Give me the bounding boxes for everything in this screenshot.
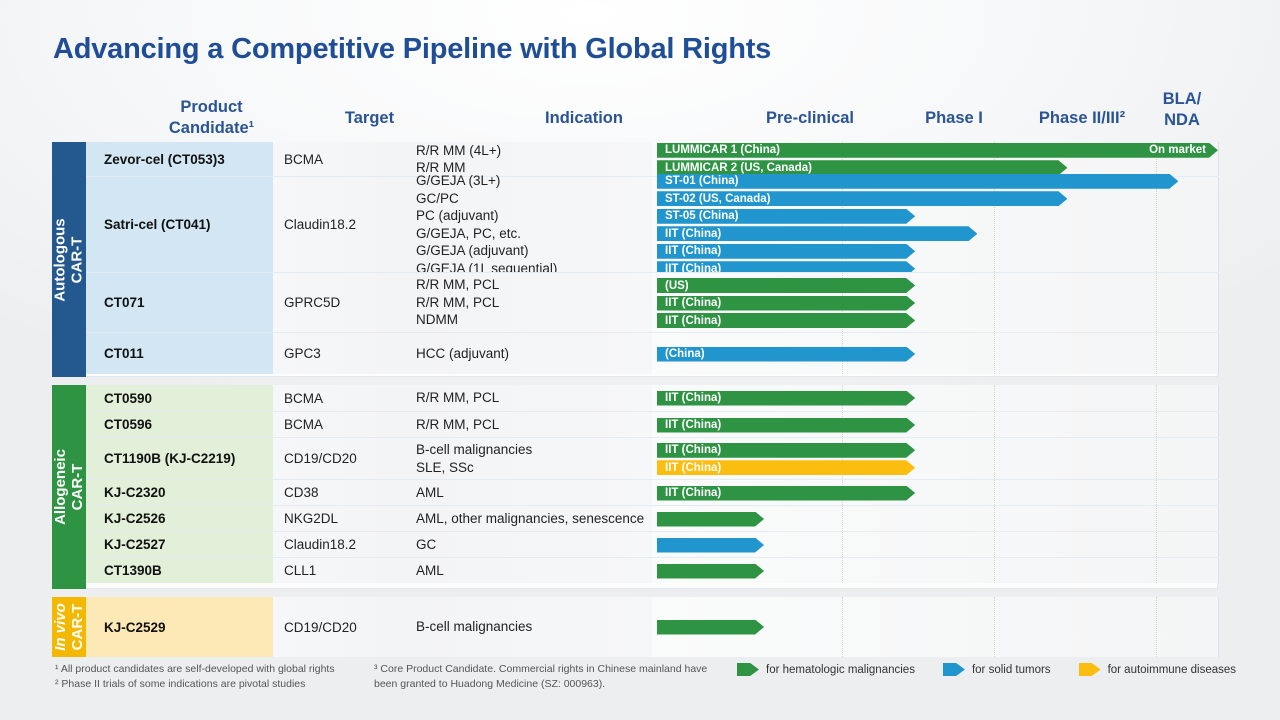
indication-line: AML: [416, 484, 652, 502]
cell-phase-bars: IIT (China): [652, 480, 1218, 505]
cell-target: CLL1: [273, 558, 402, 583]
pipeline-bar[interactable]: IIT (China): [657, 244, 915, 259]
phase-gridline: [994, 412, 995, 437]
pipeline-bar-label: IIT (China): [665, 462, 721, 474]
phase-gridline: [842, 558, 843, 583]
indication-line: B-cell malignancies: [416, 441, 652, 459]
pipeline-bar-label: IIT (China): [665, 245, 721, 257]
phase-gridline: [1156, 333, 1157, 374]
phase-gridline: [994, 333, 995, 374]
indication-line: R/R MM, PCL: [416, 416, 652, 434]
column-header-bla-line1: BLA/: [1146, 89, 1218, 110]
phase-gridline: [994, 506, 995, 531]
pipeline-bar[interactable]: LUMMICAR 1 (China)On market: [657, 143, 1218, 158]
table-row[interactable]: CT011GPC3HCC (adjuvant)(China): [86, 332, 1218, 374]
cell-phase-bars: (US)IIT (China)IIT (China): [652, 273, 1218, 332]
legend-swatch-green: [737, 663, 759, 676]
indication-line: G/GEJA, PC, etc.: [416, 225, 652, 243]
on-market-label: On market: [1149, 143, 1206, 158]
phase-gridline-end: [1218, 480, 1219, 505]
indication-line: G/GEJA (adjuvant): [416, 242, 652, 260]
phase-gridline-end: [1218, 532, 1219, 557]
indication-line: GC: [416, 536, 652, 554]
column-header-product-candidate-line2: Candidate¹: [118, 118, 305, 139]
cell-phase-bars: IIT (China): [652, 385, 1218, 411]
pipeline-bar[interactable]: IIT (China): [657, 443, 915, 458]
phase-gridline: [1156, 412, 1157, 437]
table-row[interactable]: CT1190B (KJ-C2219)CD19/CD20B-cell malign…: [86, 437, 1218, 479]
column-header-indication: Indication: [434, 108, 734, 129]
indication-line: GC/PC: [416, 190, 652, 208]
cell-phase-bars: [652, 532, 1218, 557]
phase-gridline-end: [1218, 333, 1219, 374]
pipeline-bar-label: LUMMICAR 2 (US, Canada): [665, 162, 812, 174]
section-label-line2: CAR-T: [69, 464, 86, 511]
legend-swatch-blue: [943, 663, 965, 676]
cell-phase-bars: [652, 558, 1218, 583]
cell-phase-bars: IIT (China)IIT (China): [652, 438, 1218, 479]
table-row[interactable]: KJ-C2526NKG2DLAML, other malignancies, s…: [86, 505, 1218, 531]
section-rows: KJ-C2529CD19/CD20B-cell malignancies: [86, 597, 1218, 657]
indication-line: R/R MM, PCL: [416, 294, 652, 312]
cell-phase-bars: ST-01 (China)ST-02 (US, Canada)ST-05 (Ch…: [652, 177, 1218, 272]
phase-gridline: [1156, 438, 1157, 479]
indication-line: R/R MM, PCL: [416, 389, 652, 407]
page-title: Advancing a Competitive Pipeline with Gl…: [53, 33, 771, 66]
cell-target: BCMA: [273, 142, 402, 176]
phase-gridline: [994, 558, 995, 583]
legend-item: for hematologic malignancies: [737, 663, 915, 676]
section-label-line1: Autologous: [52, 218, 69, 301]
phase-gridline: [1156, 532, 1157, 557]
pipeline-bar[interactable]: [657, 512, 764, 527]
cell-indication: AML: [402, 480, 652, 505]
cell-indication: AML: [402, 558, 652, 583]
pipeline-bar[interactable]: ST-05 (China): [657, 209, 915, 224]
legend-label: for autoimmune diseases: [1108, 664, 1236, 676]
footnote-2: ² Phase II trials of some indications ar…: [55, 677, 305, 692]
table-row[interactable]: KJ-C2529CD19/CD20B-cell malignancies: [86, 597, 1218, 657]
pipeline-bar-label: ST-01 (China): [665, 175, 738, 187]
legend-item: for autoimmune diseases: [1079, 663, 1236, 676]
footnote-1: ¹ All product candidates are self-develo…: [55, 662, 335, 677]
table-row[interactable]: CT1390BCLL1AML: [86, 557, 1218, 583]
pipeline-bar-label: IIT (China): [665, 228, 721, 240]
pipeline-bar[interactable]: IIT (China): [657, 226, 977, 241]
cell-indication: B-cell malignanciesSLE, SSc: [402, 438, 652, 479]
pipeline-bar[interactable]: IIT (China): [657, 313, 915, 328]
column-header-bla-nda: BLA/ NDA: [1146, 89, 1218, 131]
cell-indication: R/R MM, PCL: [402, 412, 652, 437]
pipeline-bar-label: ST-02 (US, Canada): [665, 193, 770, 205]
cell-product-candidate: CT0596: [86, 412, 273, 437]
cell-target: CD38: [273, 480, 402, 505]
legend-swatch-amber: [1079, 663, 1101, 676]
cell-indication: R/R MM (4L+)R/R MM: [402, 142, 652, 176]
pipeline-bar[interactable]: ST-01 (China): [657, 174, 1178, 189]
phase-gridline: [842, 506, 843, 531]
footnote-3-cont: been granted to Huadong Medicine (SZ: 00…: [374, 677, 605, 692]
section-label-line2: CAR-T: [69, 236, 86, 283]
column-header-product-candidate: Product Candidate¹: [118, 97, 305, 139]
pipeline-bar-label: IIT (China): [665, 444, 721, 456]
table-row[interactable]: KJ-C2320CD38AMLIIT (China): [86, 479, 1218, 505]
cell-product-candidate: Zevor-cel (CT053)3: [86, 142, 273, 176]
indication-line: R/R MM, PCL: [416, 276, 652, 294]
pipeline-bar[interactable]: ST-02 (US, Canada): [657, 191, 1067, 206]
indication-line: R/R MM (4L+): [416, 142, 652, 160]
cell-indication: R/R MM, PCL: [402, 385, 652, 411]
phase-gridline: [1156, 558, 1157, 583]
pipeline-bar[interactable]: IIT (China): [657, 460, 915, 475]
phase-gridline-end: [1218, 597, 1219, 657]
pipeline-bar[interactable]: (China): [657, 347, 915, 362]
cell-phase-bars: [652, 506, 1218, 531]
legend-label: for solid tumors: [972, 664, 1051, 676]
section-allogeneic: AllogeneicCAR-TCT0590BCMAR/R MM, PCLIIT …: [52, 385, 1218, 589]
cell-indication: G/GEJA (3L+)GC/PCPC (adjuvant)G/GEJA, PC…: [402, 177, 652, 272]
table-row[interactable]: CT0596BCMAR/R MM, PCLIIT (China): [86, 411, 1218, 437]
pipeline-bar[interactable]: IIT (China): [657, 418, 915, 433]
indication-line: AML: [416, 562, 652, 580]
column-header-phase-1: Phase I: [890, 108, 1018, 129]
phase-gridline: [1156, 597, 1157, 657]
column-header-target: Target: [305, 108, 434, 129]
pipeline-bar[interactable]: [657, 538, 764, 553]
cell-target: BCMA: [273, 385, 402, 411]
legend: for hematologic malignanciesfor solid tu…: [737, 663, 1264, 676]
phase-gridline: [1156, 480, 1157, 505]
section-label-in_vivo: In vivoCAR-T: [52, 597, 86, 657]
indication-line: B-cell malignancies: [416, 618, 652, 636]
cell-target: GPRC5D: [273, 273, 402, 332]
pipeline-bar-label: (US): [665, 280, 689, 292]
indication-line: SLE, SSc: [416, 459, 652, 477]
pipeline-bar[interactable]: [657, 620, 764, 635]
indication-line: PC (adjuvant): [416, 207, 652, 225]
pipeline-bar[interactable]: (US): [657, 278, 915, 293]
cell-indication: HCC (adjuvant): [402, 333, 652, 374]
cell-indication: GC: [402, 532, 652, 557]
column-header-preclinical: Pre-clinical: [730, 108, 890, 129]
phase-gridline-end: [1218, 142, 1219, 176]
legend-item: for solid tumors: [943, 663, 1051, 676]
section-label-line1: Allogeneic: [52, 449, 69, 525]
phase-gridline: [842, 597, 843, 657]
cell-target: Claudin18.2: [273, 532, 402, 557]
indication-line: HCC (adjuvant): [416, 345, 652, 363]
pipeline-table: AutologousCAR-TZevor-cel (CT053)3BCMAR/R…: [52, 142, 1218, 584]
phase-gridline-end: [1218, 558, 1219, 583]
section-rows: CT0590BCMAR/R MM, PCLIIT (China)CT0596BC…: [86, 385, 1218, 589]
phase-gridline: [1156, 177, 1157, 272]
cell-product-candidate: KJ-C2529: [86, 597, 273, 657]
section-label-line2: CAR-T: [69, 604, 86, 651]
cell-target: NKG2DL: [273, 506, 402, 531]
cell-target: GPC3: [273, 333, 402, 374]
phase-gridline-end: [1218, 506, 1219, 531]
section-label-autologous: AutologousCAR-T: [52, 142, 86, 377]
cell-product-candidate: KJ-C2526: [86, 506, 273, 531]
pipeline-bar[interactable]: LUMMICAR 2 (US, Canada): [657, 160, 1067, 175]
pipeline-bar-label: IIT (China): [665, 297, 721, 309]
phase-gridline-end: [1218, 385, 1219, 411]
table-row[interactable]: CT071GPRC5DR/R MM, PCLR/R MM, PCLNDMM(US…: [86, 272, 1218, 332]
section-label-line1: In vivo: [52, 603, 69, 651]
column-header-phase-2-3: Phase II/III²: [1018, 108, 1146, 129]
phase-gridline: [1156, 385, 1157, 411]
phase-gridline: [994, 438, 995, 479]
pipeline-bar-label: IIT (China): [665, 487, 721, 499]
pipeline-bar-label: IIT (China): [665, 419, 721, 431]
section-label-allogeneic: AllogeneicCAR-T: [52, 385, 86, 589]
cell-indication: AML, other malignancies, senescence: [402, 506, 652, 531]
cell-product-candidate: KJ-C2527: [86, 532, 273, 557]
cell-product-candidate: CT0590: [86, 385, 273, 411]
phase-gridline-end: [1218, 412, 1219, 437]
indication-line: G/GEJA (3L+): [416, 172, 652, 190]
cell-indication: R/R MM, PCLR/R MM, PCLNDMM: [402, 273, 652, 332]
indication-line: AML, other malignancies, senescence: [416, 510, 652, 528]
cell-phase-bars: IIT (China): [652, 412, 1218, 437]
phase-gridline-end: [1218, 273, 1219, 332]
phase-gridline-end: [1218, 177, 1219, 272]
pipeline-bar[interactable]: [657, 564, 764, 579]
phase-gridline: [842, 532, 843, 557]
table-row[interactable]: KJ-C2527Claudin18.2GC: [86, 531, 1218, 557]
legend-label: for hematologic malignancies: [766, 664, 915, 676]
pipeline-bar-label: IIT (China): [665, 315, 721, 327]
cell-phase-bars: (China): [652, 333, 1218, 374]
column-header-bla-line2: NDA: [1146, 110, 1218, 131]
pipeline-bar[interactable]: IIT (China): [657, 296, 915, 311]
footnote-3: ³ Core Product Candidate. Commercial rig…: [374, 662, 707, 677]
pipeline-bar-label: (China): [665, 348, 705, 360]
pipeline-bar-label: IIT (China): [665, 392, 721, 404]
cell-product-candidate: CT011: [86, 333, 273, 374]
pipeline-bar[interactable]: IIT (China): [657, 486, 915, 501]
phase-gridline: [994, 480, 995, 505]
cell-product-candidate: CT1390B: [86, 558, 273, 583]
cell-target: BCMA: [273, 412, 402, 437]
cell-product-candidate: KJ-C2320: [86, 480, 273, 505]
indication-line: NDMM: [416, 311, 652, 329]
cell-product-candidate: Satri-cel (CT041): [86, 177, 273, 272]
phase-gridline: [994, 273, 995, 332]
phase-gridline: [994, 532, 995, 557]
cell-indication: B-cell malignancies: [402, 597, 652, 657]
table-row[interactable]: Satri-cel (CT041)Claudin18.2G/GEJA (3L+)…: [86, 176, 1218, 272]
cell-target: Claudin18.2: [273, 177, 402, 272]
section-autologous: AutologousCAR-TZevor-cel (CT053)3BCMAR/R…: [52, 142, 1218, 377]
phase-gridline: [1156, 273, 1157, 332]
table-row[interactable]: CT0590BCMAR/R MM, PCLIIT (China): [86, 385, 1218, 411]
cell-product-candidate: CT1190B (KJ-C2219): [86, 438, 273, 479]
pipeline-bar[interactable]: IIT (China): [657, 391, 915, 406]
cell-product-candidate: CT071: [86, 273, 273, 332]
section-in_vivo: In vivoCAR-TKJ-C2529CD19/CD20B-cell mali…: [52, 597, 1218, 657]
pipeline-bar-label: ST-05 (China): [665, 210, 738, 222]
phase-gridline: [1156, 506, 1157, 531]
column-header-product-candidate-line1: Product: [118, 97, 305, 118]
pipeline-bar-label: LUMMICAR 1 (China): [665, 144, 780, 156]
cell-phase-bars: LUMMICAR 1 (China)On marketLUMMICAR 2 (U…: [652, 142, 1218, 176]
cell-target: CD19/CD20: [273, 438, 402, 479]
phase-gridline: [994, 597, 995, 657]
cell-phase-bars: [652, 597, 1218, 657]
table-row[interactable]: Zevor-cel (CT053)3BCMAR/R MM (4L+)R/R MM…: [86, 142, 1218, 176]
phase-gridline: [994, 385, 995, 411]
cell-target: CD19/CD20: [273, 597, 402, 657]
phase-gridline-end: [1218, 438, 1219, 479]
section-rows: Zevor-cel (CT053)3BCMAR/R MM (4L+)R/R MM…: [86, 142, 1218, 377]
